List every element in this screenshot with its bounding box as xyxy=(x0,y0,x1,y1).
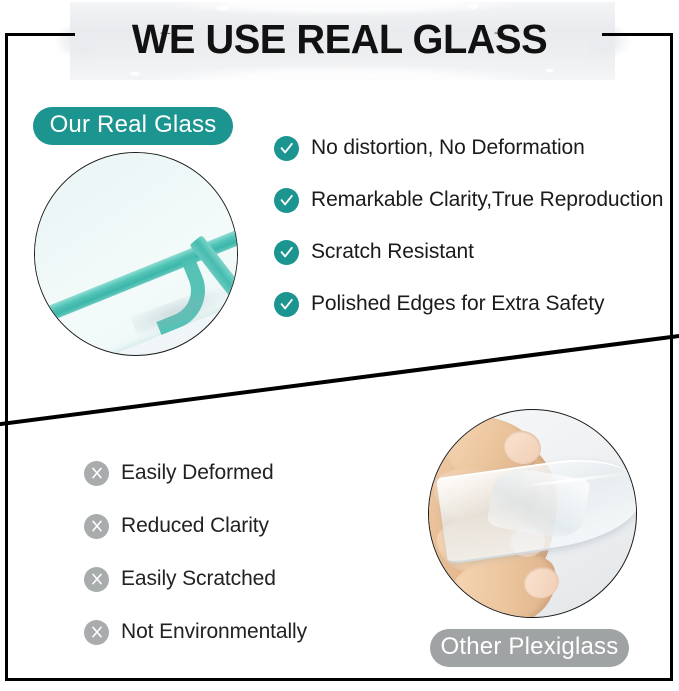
list-item-label: Remarkable Clarity,True Reproduction xyxy=(311,188,663,212)
list-item: Remarkable Clarity,True Reproduction xyxy=(274,182,674,218)
cross-icon xyxy=(84,514,109,539)
list-item-label: Scratch Resistant xyxy=(311,240,474,264)
real-glass-corner-photo xyxy=(34,152,238,356)
product-comparison-infographic: ~~ ~~ WE USE REAL GLASS Our Real Glass N… xyxy=(0,0,679,691)
benefits-list: No distortion, No Deformation Remarkable… xyxy=(274,130,674,338)
check-icon xyxy=(274,292,299,317)
list-item: Reduced Clarity xyxy=(84,508,484,544)
list-item: Easily Scratched xyxy=(84,561,484,597)
hand-bending-plexiglass-photo xyxy=(428,409,637,618)
list-item: Polished Edges for Extra Safety xyxy=(274,286,674,322)
list-item-label: Easily Deformed xyxy=(121,461,274,485)
page-title: WE USE REAL GLASS xyxy=(10,16,669,63)
cross-icon xyxy=(84,567,109,592)
list-item-label: Easily Scratched xyxy=(121,567,276,591)
list-item: Scratch Resistant xyxy=(274,234,674,270)
list-item-label: Polished Edges for Extra Safety xyxy=(311,292,604,316)
list-item: Not Environmentally xyxy=(84,614,484,650)
frame-border-left xyxy=(5,33,8,681)
check-icon xyxy=(274,188,299,213)
cross-icon xyxy=(84,620,109,645)
drawbacks-list: Easily Deformed Reduced Clarity Easily S… xyxy=(84,455,484,667)
cross-icon xyxy=(84,461,109,486)
list-item-label: No distortion, No Deformation xyxy=(311,136,585,160)
badge-other-plexiglass: Other Plexiglass xyxy=(430,629,629,667)
list-item-label: Not Environmentally xyxy=(121,620,307,644)
check-icon xyxy=(274,240,299,265)
list-item: Easily Deformed xyxy=(84,455,484,491)
check-icon xyxy=(274,136,299,161)
frame-border-bottom xyxy=(5,678,673,681)
list-item-label: Reduced Clarity xyxy=(121,514,269,538)
badge-our-real-glass: Our Real Glass xyxy=(33,107,233,145)
list-item: No distortion, No Deformation xyxy=(274,130,674,166)
